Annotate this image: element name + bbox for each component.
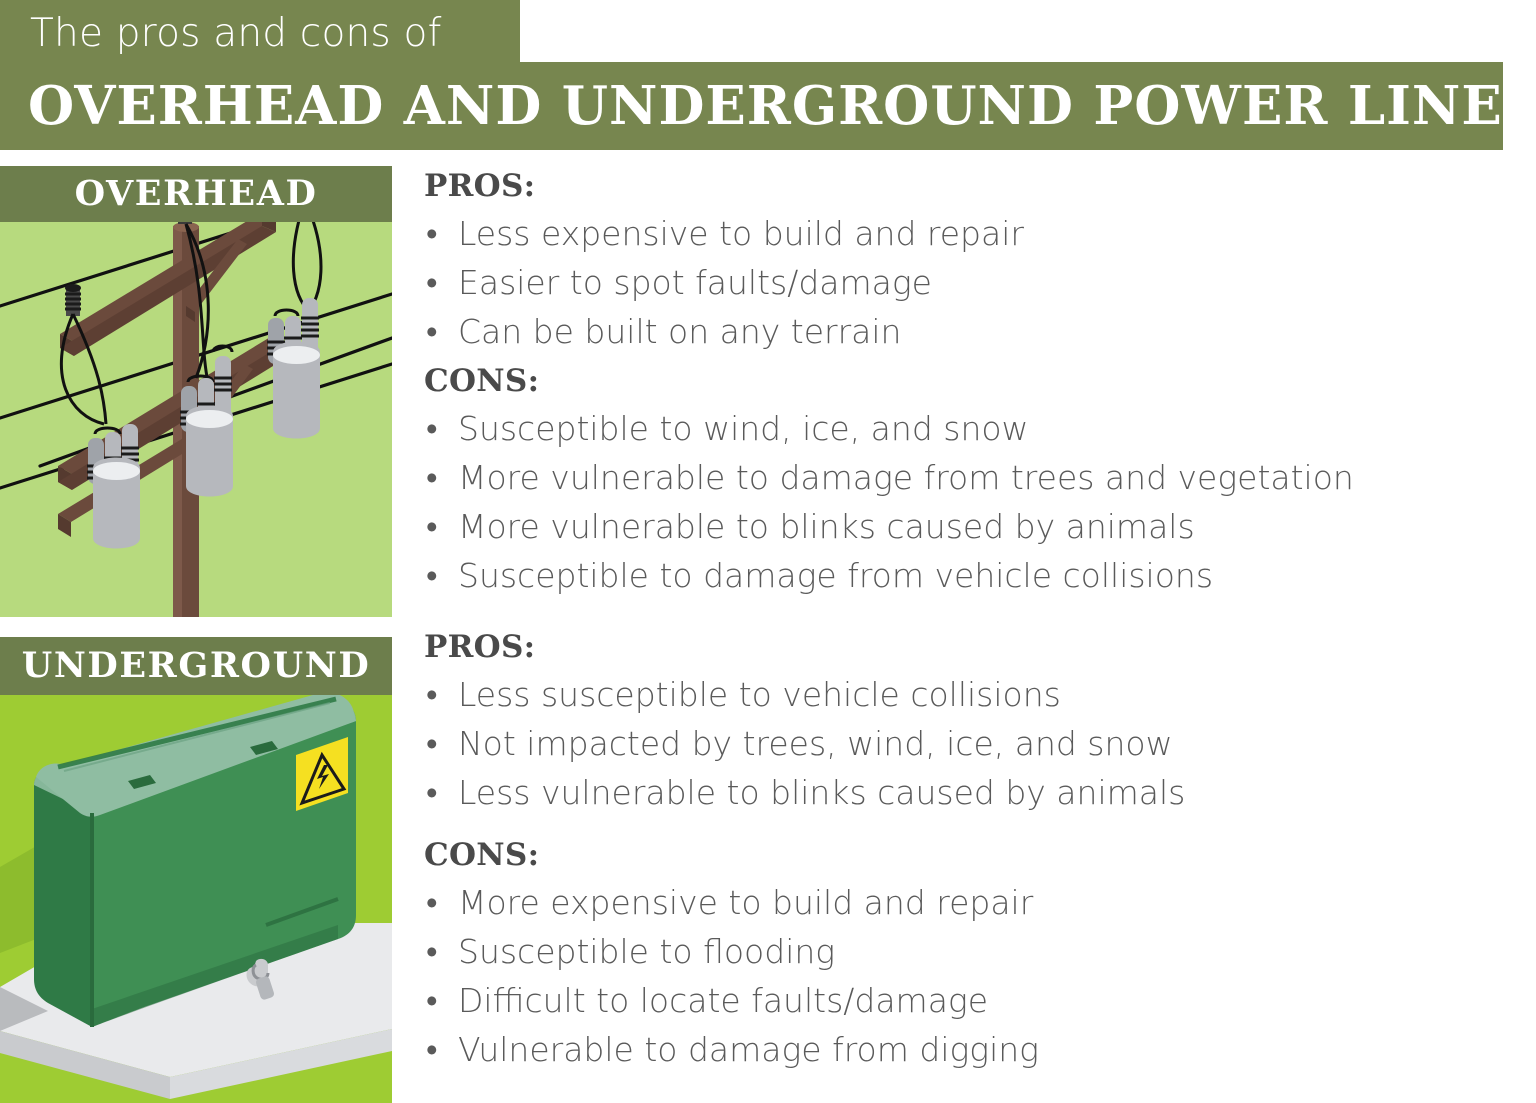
list-item-label: Difficult to locate faults/damage	[458, 981, 988, 1020]
infographic-header: The pros and cons of OVERHEAD AND UNDERG…	[0, 0, 1536, 152]
bullet-icon: •	[426, 976, 438, 1025]
section-underground-pros: PROS: •Less susceptible to vehicle colli…	[424, 627, 1530, 817]
overhead-illustration-panel: OVERHEAD	[0, 166, 392, 617]
list-item: •Not impacted by trees, wind, ice, and s…	[424, 719, 1530, 768]
list-item-label: Can be built on any terrain	[458, 312, 901, 351]
list-item: •Less vulnerable to blinks caused by ani…	[424, 768, 1530, 817]
bullet-icon: •	[426, 878, 438, 927]
list-item: •Less expensive to build and repair	[424, 209, 1530, 258]
underground-panel-label: UNDERGROUND	[0, 637, 392, 695]
bullet-icon: •	[426, 258, 438, 307]
bullet-icon: •	[426, 927, 438, 976]
list-item-label: Less vulnerable to blinks caused by anim…	[458, 773, 1185, 812]
overhead-pros-list: •Less expensive to build and repair •Eas…	[424, 209, 1530, 356]
transformer-bank-right	[267, 298, 320, 439]
overhead-cons-list: •Susceptible to wind, ice, and snow •Mor…	[424, 404, 1530, 600]
bullet-icon: •	[426, 453, 438, 502]
list-item: •More vulnerable to blinks caused by ani…	[424, 502, 1530, 551]
bullet-icon: •	[426, 404, 438, 453]
section-underground-cons: CONS: •More expensive to build and repai…	[424, 835, 1530, 1074]
section-heading: PROS:	[424, 166, 1530, 206]
list-item-label: Susceptible to flooding	[458, 932, 835, 971]
bullet-icon: •	[426, 1025, 438, 1074]
list-item-label: Easier to spot faults/damage	[458, 263, 932, 302]
section-overhead-cons: CONS: •Susceptible to wind, ice, and sno…	[424, 361, 1530, 600]
list-item: •More vulnerable to damage from trees an…	[424, 453, 1530, 502]
list-item: •Difficult to locate faults/damage	[424, 976, 1530, 1025]
header-kicker: The pros and cons of	[30, 8, 510, 60]
bullet-icon: •	[426, 209, 438, 258]
transformer-bank-left	[87, 424, 140, 549]
overhead-panel-label: OVERHEAD	[0, 166, 392, 222]
list-item: •Vulnerable to damage from digging	[424, 1025, 1530, 1074]
list-item: •Susceptible to wind, ice, and snow	[424, 404, 1530, 453]
bullet-icon: •	[426, 502, 438, 551]
list-item-label: More vulnerable to damage from trees and…	[458, 458, 1354, 497]
list-item-label: Not impacted by trees, wind, ice, and sn…	[458, 724, 1173, 763]
section-heading: CONS:	[424, 361, 1530, 401]
bullet-icon: •	[426, 307, 438, 356]
section-heading: CONS:	[424, 835, 1530, 875]
underground-illustration-panel: UNDERGROUND	[0, 637, 392, 1103]
bullet-icon: •	[426, 551, 438, 600]
underground-pros-list: •Less susceptible to vehicle collisions …	[424, 670, 1530, 817]
bullet-icon: •	[426, 670, 438, 719]
list-item-label: More expensive to build and repair	[458, 883, 1033, 922]
list-item-label: Vulnerable to damage from digging	[458, 1030, 1039, 1069]
bullet-icon: •	[426, 719, 438, 768]
list-item-label: Susceptible to damage from vehicle colli…	[458, 556, 1213, 595]
pad-mounted-transformer-illustration	[0, 637, 392, 1103]
pros-cons-content: PROS: •Less expensive to build and repai…	[424, 166, 1530, 1103]
list-item: •Less susceptible to vehicle collisions	[424, 670, 1530, 719]
section-overhead-pros: PROS: •Less expensive to build and repai…	[424, 166, 1530, 356]
page-title: OVERHEAD AND UNDERGROUND POWER LINES	[28, 66, 1498, 146]
list-item: •More expensive to build and repair	[424, 878, 1530, 927]
list-item: •Susceptible to damage from vehicle coll…	[424, 551, 1530, 600]
list-item: •Can be built on any terrain	[424, 307, 1530, 356]
list-item: •Easier to spot faults/damage	[424, 258, 1530, 307]
bullet-icon: •	[426, 768, 438, 817]
list-item-label: Less expensive to build and repair	[458, 214, 1024, 253]
list-item-label: Less susceptible to vehicle collisions	[458, 675, 1061, 714]
section-heading: PROS:	[424, 627, 1530, 667]
list-item: •Susceptible to flooding	[424, 927, 1530, 976]
list-item-label: More vulnerable to blinks caused by anim…	[458, 507, 1195, 546]
insulator-left	[65, 284, 81, 316]
underground-cons-list: •More expensive to build and repair •Sus…	[424, 878, 1530, 1074]
list-item-label: Susceptible to wind, ice, and snow	[458, 409, 1029, 448]
utility-pole-illustration	[0, 166, 392, 617]
